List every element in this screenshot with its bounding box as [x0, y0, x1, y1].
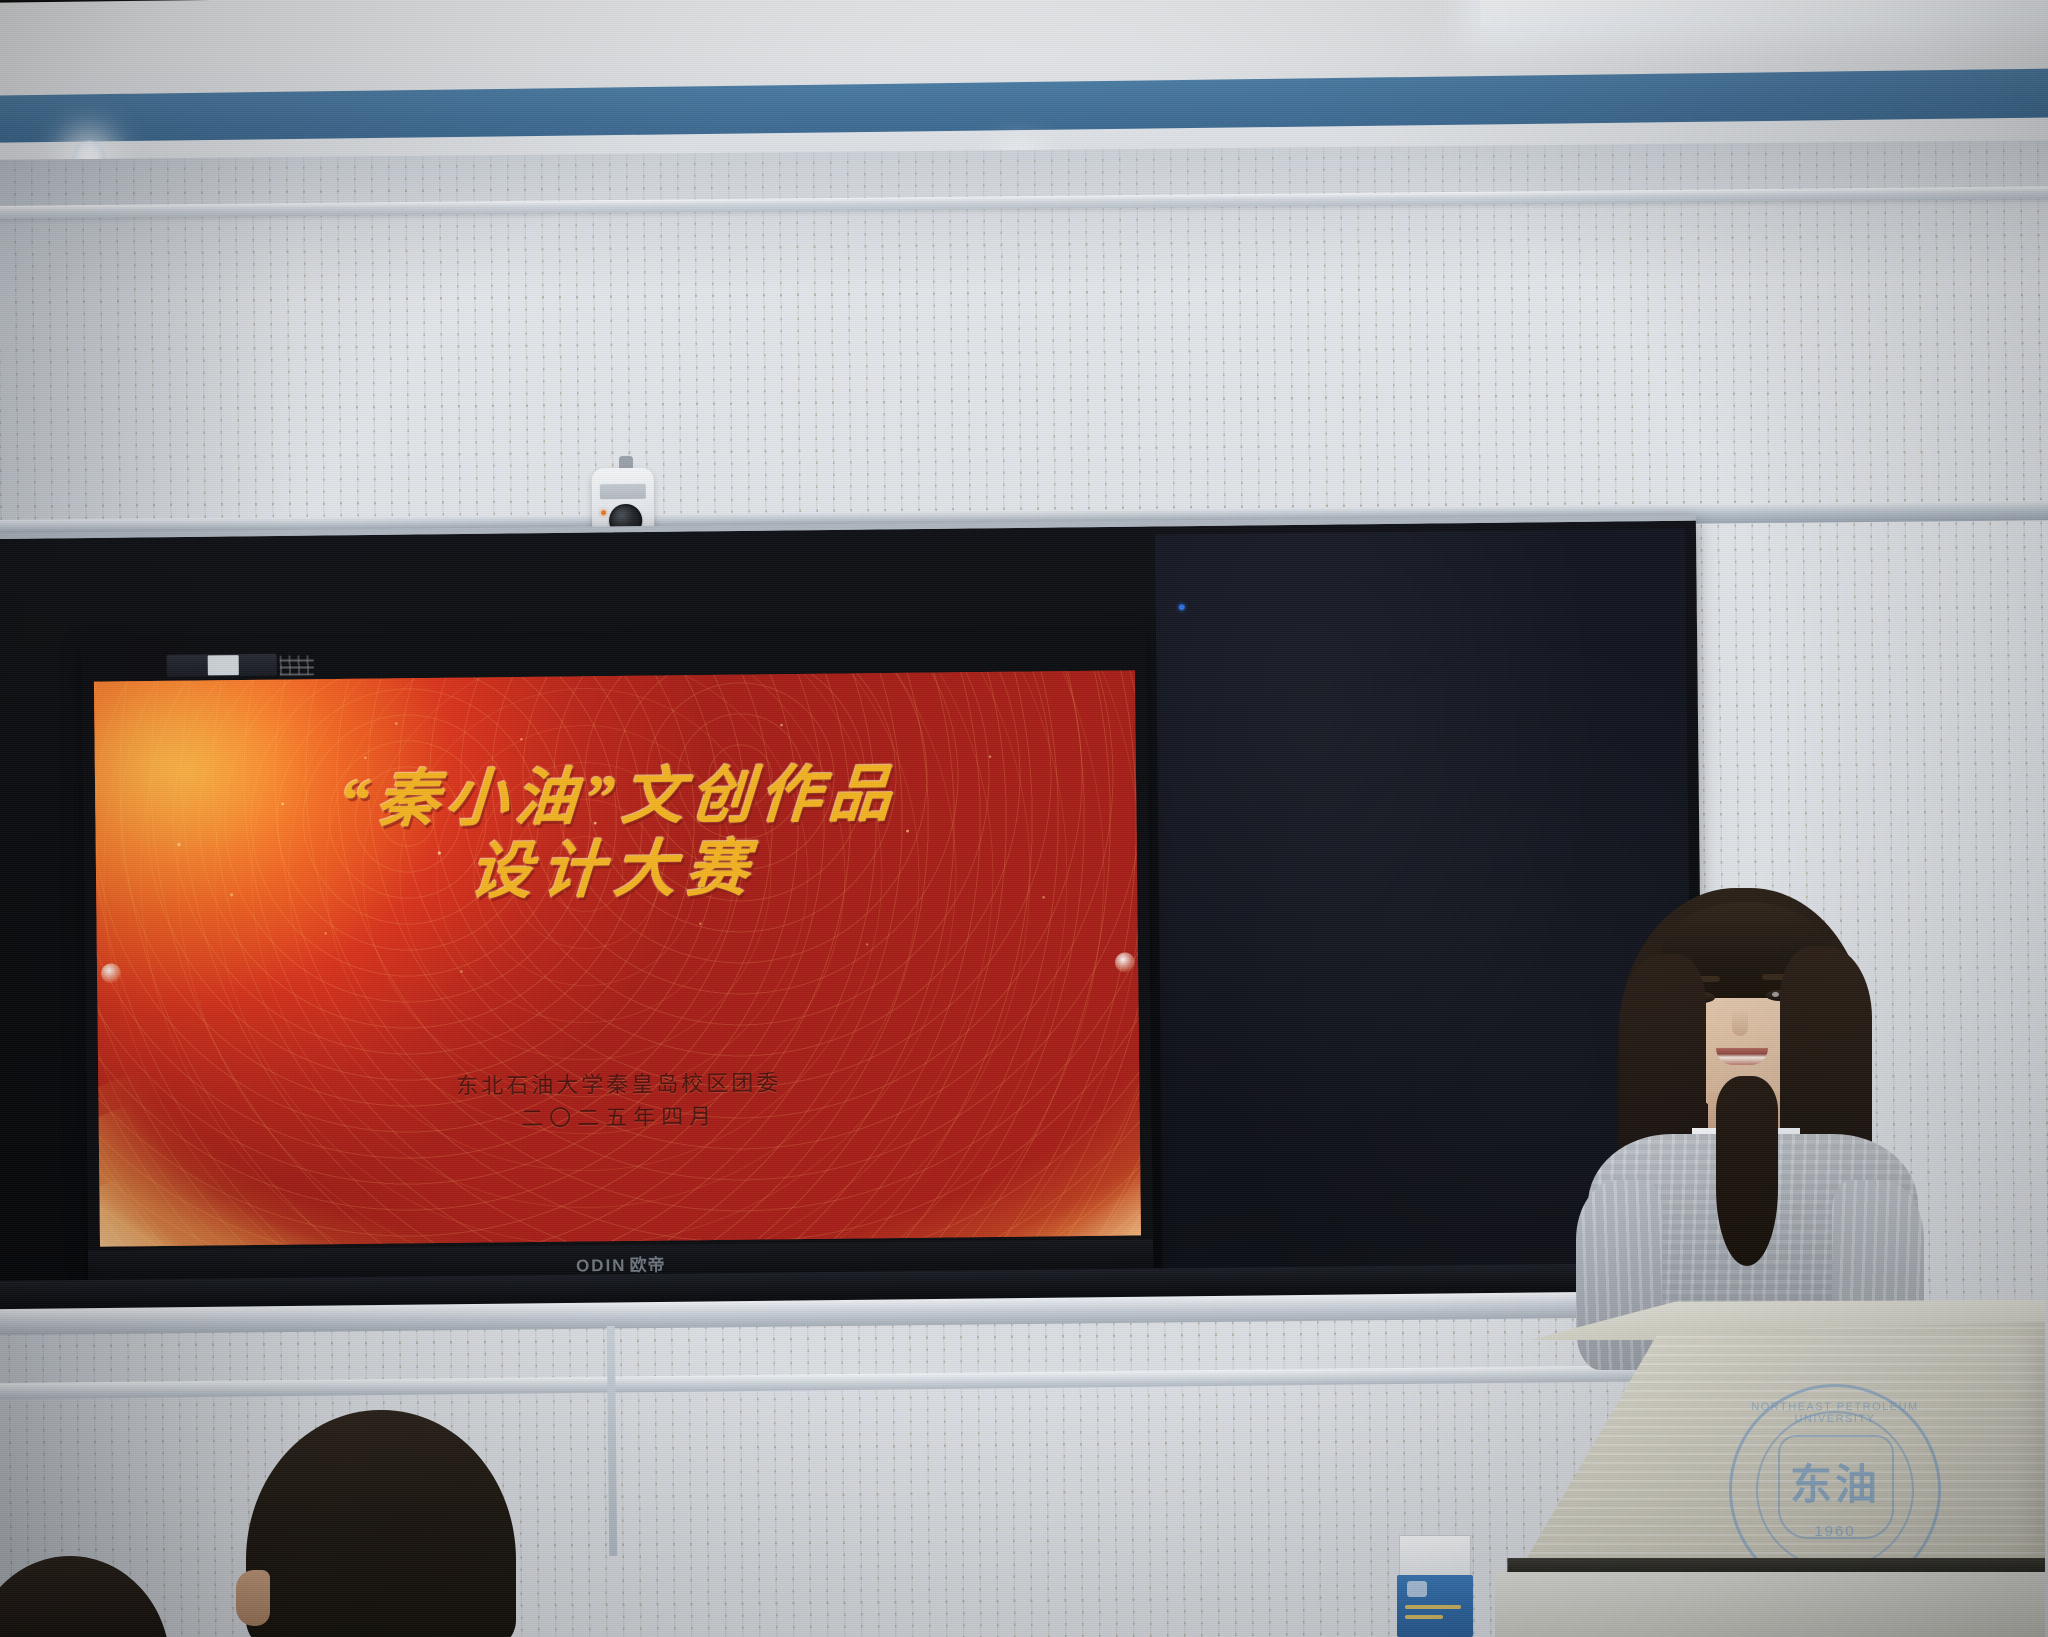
- blackboard-indicator-led: [1179, 604, 1185, 610]
- product-box-logo-icon: [1407, 1581, 1427, 1597]
- wall-shadow-top: [0, 140, 2048, 300]
- lectern: NORTHEAST PETROLEUM UNIVERSITY 东油 1960 东…: [1485, 1300, 2045, 1637]
- product-box-stripe-2: [1405, 1615, 1443, 1619]
- seal-text-top: NORTHEAST PETROLEUM UNIVERSITY: [1732, 1401, 1938, 1425]
- seal-text-center: 东油: [1732, 1451, 1938, 1512]
- slide-title-line-2: 设计大赛: [94, 830, 1137, 914]
- odin-brand-text-cn: 欧帝: [629, 1255, 665, 1274]
- presenter-nose: [1732, 1010, 1748, 1036]
- bezel-dot-matrix: [280, 655, 314, 675]
- audience-ear-front: [236, 1570, 270, 1626]
- camera-sensor-strip: [600, 484, 646, 499]
- slide-title-line-1: “秦小油”文创作品: [337, 761, 900, 835]
- lectern-front-panel: NORTHEAST PETROLEUM UNIVERSITY 东油 1960 东…: [1485, 1322, 2045, 1572]
- classroom-photo-scene: “秦小油”文创作品 设计大赛 东北石油大学秦皇岛校区团委 二〇二五年四月 ODI…: [0, 0, 2048, 1637]
- seal-year: 1960: [1732, 1523, 1938, 1540]
- camera-status-led: [601, 510, 606, 515]
- blue-product-box: [1397, 1535, 1473, 1637]
- product-box-stripe-1: [1405, 1605, 1461, 1609]
- screen-glare-left: [101, 963, 121, 983]
- interactive-flat-panel-display[interactable]: “秦小油”文创作品 设计大赛 东北石油大学秦皇岛校区团委 二〇二五年四月 ODI…: [81, 628, 1153, 1297]
- bezel-white-tag: [208, 655, 239, 675]
- slide-title: “秦小油”文创作品 设计大赛: [94, 756, 1141, 914]
- lectern-base: [1495, 1572, 2045, 1637]
- presentation-slide[interactable]: “秦小油”文创作品 设计大赛 东北石油大学秦皇岛校区团委 二〇二五年四月: [94, 670, 1141, 1246]
- product-box-body: [1397, 1575, 1473, 1637]
- odin-brand-text: ODIN: [576, 1256, 627, 1276]
- presenter-woman: [1540, 880, 1960, 1360]
- presenter-eye-highlight-right: [1772, 992, 1779, 997]
- presenter-hair-strand-center: [1716, 1076, 1778, 1266]
- slide-footer: 东北石油大学秦皇岛校区团委 二〇二五年四月: [98, 1062, 1140, 1139]
- screen-glare-right: [1115, 952, 1135, 972]
